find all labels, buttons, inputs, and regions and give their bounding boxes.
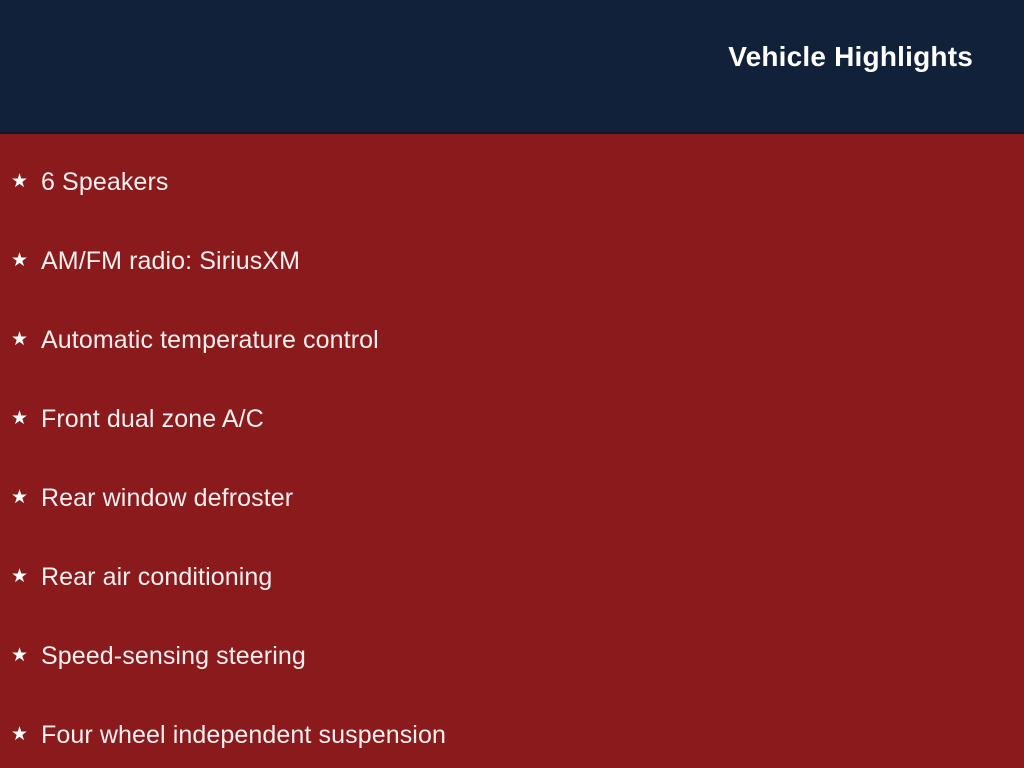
list-item-label: Four wheel independent suspension <box>41 687 446 748</box>
list-item: ★ 6 Speakers <box>0 134 1024 213</box>
star-icon: ★ <box>11 689 41 744</box>
star-icon: ★ <box>11 136 41 191</box>
list-item: ★ Speed-sensing steering <box>0 608 1024 687</box>
list-item: ★ Rear window defroster <box>0 450 1024 529</box>
star-icon: ★ <box>11 294 41 349</box>
list-item: ★ Automatic temperature control <box>0 292 1024 371</box>
list-item-label: Rear air conditioning <box>41 529 272 590</box>
list-item-label: Automatic temperature control <box>41 292 379 353</box>
list-item-label: 6 Speakers <box>41 134 168 195</box>
vehicle-highlights-list: ★ 6 Speakers ★ AM/FM radio: SiriusXM ★ A… <box>0 134 1024 766</box>
list-item-label: Front dual zone A/C <box>41 371 264 432</box>
vehicle-highlights-slide: Vehicle Highlights ★ 6 Speakers ★ AM/FM … <box>0 0 1024 768</box>
star-icon: ★ <box>11 531 41 586</box>
star-icon: ★ <box>11 452 41 507</box>
list-item: ★ Front dual zone A/C <box>0 371 1024 450</box>
slide-header: Vehicle Highlights <box>0 0 1024 133</box>
star-icon: ★ <box>11 610 41 665</box>
list-item: ★ Four wheel independent suspension <box>0 687 1024 766</box>
page-title: Vehicle Highlights <box>728 43 973 71</box>
slide-body: ★ 6 Speakers ★ AM/FM radio: SiriusXM ★ A… <box>0 134 1024 768</box>
list-item-label: Rear window defroster <box>41 450 293 511</box>
list-item: ★ Rear air conditioning <box>0 529 1024 608</box>
list-item-label: Speed-sensing steering <box>41 608 306 669</box>
star-icon: ★ <box>11 215 41 270</box>
list-item-label: AM/FM radio: SiriusXM <box>41 213 300 274</box>
star-icon: ★ <box>11 373 41 428</box>
list-item: ★ AM/FM radio: SiriusXM <box>0 213 1024 292</box>
